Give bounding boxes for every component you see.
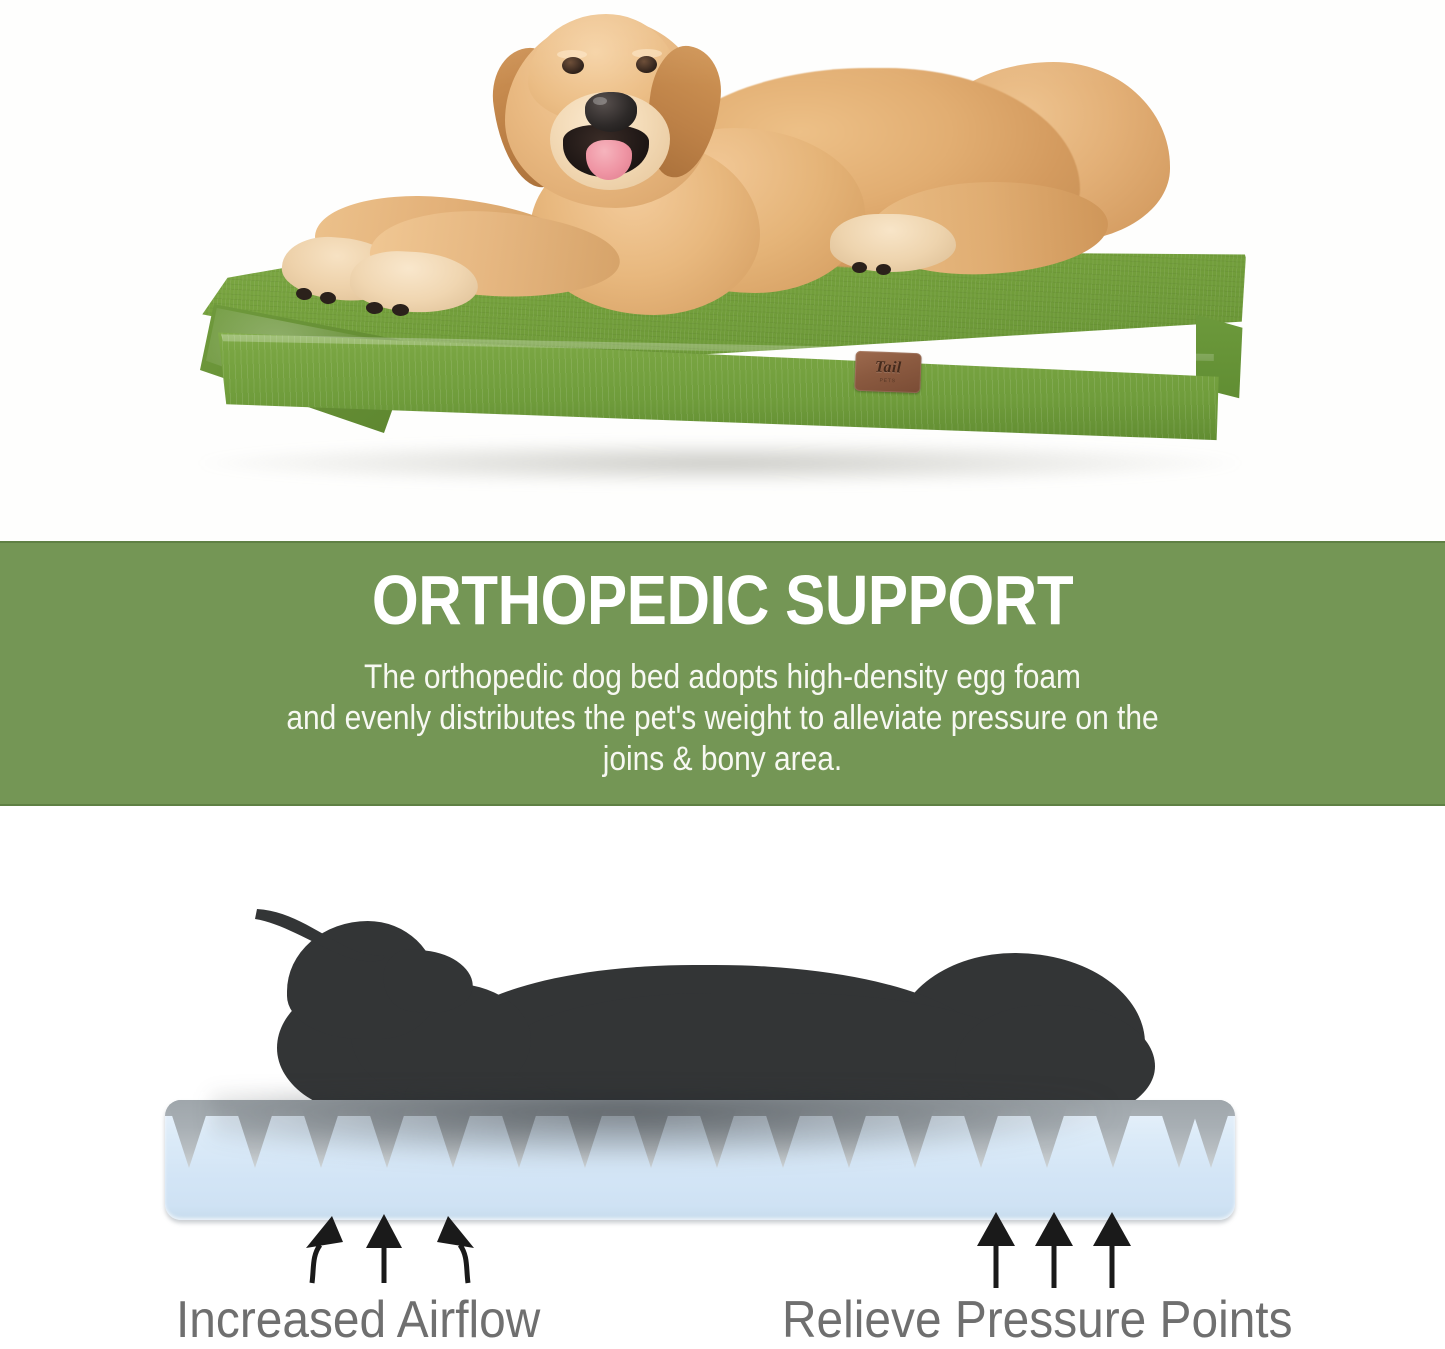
infographic-page: Tail PETS bbox=[0, 0, 1445, 1349]
foam-tooth bbox=[365, 1100, 409, 1168]
dog-rear-paw bbox=[830, 214, 956, 272]
dog-silhouette bbox=[255, 905, 1185, 1120]
dog-toe-nail bbox=[392, 304, 410, 317]
foam-tooth bbox=[761, 1100, 805, 1168]
foam-tooth bbox=[1091, 1100, 1135, 1168]
dog-nose-highlight bbox=[593, 97, 607, 105]
foam-tooth bbox=[695, 1100, 739, 1168]
foam-tooth bbox=[827, 1100, 871, 1168]
dog-toe-nail bbox=[876, 264, 891, 275]
label-increased-airflow: Increased Airflow bbox=[176, 1292, 540, 1348]
dog-nose bbox=[585, 92, 637, 132]
brand-tag-mark: Tail bbox=[875, 360, 902, 377]
banner-description: The orthopedic dog bed adopts high-densi… bbox=[87, 635, 1359, 780]
dog-right-eye bbox=[636, 56, 657, 73]
foam-tooth bbox=[629, 1100, 673, 1168]
banner-headline: ORTHOPEDIC SUPPORT bbox=[101, 543, 1344, 635]
silhouette-tail bbox=[255, 905, 385, 969]
label-relieve-pressure-points: Relieve Pressure Points bbox=[782, 1292, 1293, 1348]
foam-tooth bbox=[299, 1100, 343, 1168]
foam-egg-crate-teeth bbox=[165, 1100, 1235, 1172]
foam-tooth bbox=[497, 1100, 541, 1168]
product-photo-panel: Tail PETS bbox=[0, 0, 1445, 541]
brand-leather-tag: Tail PETS bbox=[854, 351, 921, 394]
foam-tooth bbox=[431, 1100, 475, 1168]
foam-tooth bbox=[959, 1100, 1003, 1168]
foam-tooth bbox=[1189, 1100, 1233, 1168]
golden-retriever-photo bbox=[400, 0, 1100, 320]
dog-toe-nail bbox=[852, 262, 867, 273]
foam-tooth bbox=[167, 1100, 211, 1168]
foam-tooth bbox=[1025, 1100, 1069, 1168]
orthopedic-support-banner: ORTHOPEDIC SUPPORT The orthopedic dog be… bbox=[0, 541, 1445, 806]
foam-tooth bbox=[563, 1100, 607, 1168]
brand-tag-subtext: PETS bbox=[879, 378, 895, 385]
foam-tooth bbox=[893, 1100, 937, 1168]
dog-left-eye bbox=[562, 57, 584, 74]
foam-tooth bbox=[233, 1100, 277, 1168]
